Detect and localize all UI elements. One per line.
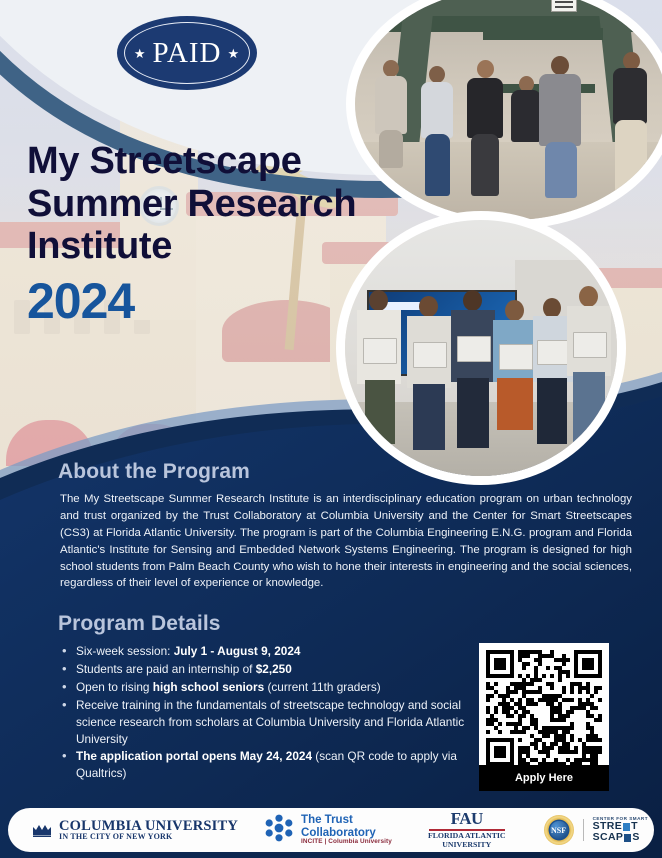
- nsf-mark: NSF: [550, 821, 568, 839]
- logo-trust-collaboratory: The Trust Collaboratory INCITE | Columbi…: [264, 808, 392, 852]
- title-line-2: Summer Research: [27, 183, 387, 226]
- poster: ★ PAID ★: [0, 0, 662, 858]
- qr-code-image[interactable]: [486, 650, 602, 766]
- logo-center-for-smart-streetscapes: CENTER FOR SMART STRE T SCAP S: [593, 817, 648, 844]
- fau-mark: FAU: [451, 810, 483, 827]
- traffic-sign: [551, 0, 577, 12]
- list-item: Open to rising high school seniors (curr…: [60, 679, 480, 696]
- photo-street-scene: [355, 0, 662, 220]
- details-heading: Program Details: [58, 612, 632, 636]
- title-line-1: My Streetscape: [27, 140, 387, 183]
- title-year: 2024: [27, 276, 387, 326]
- apply-here-label[interactable]: Apply Here: [479, 765, 609, 791]
- logo-columbia-university: COLUMBIA UNIVERSITY IN THE CITY OF NEW Y…: [32, 808, 238, 852]
- footer-logo-bar: COLUMBIA UNIVERSITY IN THE CITY OF NEW Y…: [8, 808, 654, 852]
- list-item: Receive training in the fundamentals of …: [60, 697, 480, 748]
- trust-line-2: Collaboratory: [301, 827, 392, 839]
- trust-line-1: The Trust: [301, 814, 392, 826]
- crown-icon: [32, 823, 52, 837]
- columbia-tagline: IN THE CITY OF NEW YORK: [59, 833, 238, 841]
- bar-icon: [623, 823, 630, 831]
- list-item: The application portal opens May 24, 202…: [60, 748, 480, 782]
- logo-nsf-and-cs3: NSF CENTER FOR SMART STRE T SCAP S: [544, 808, 648, 852]
- about-heading: About the Program: [58, 460, 632, 484]
- nsf-seal-icon: NSF: [544, 815, 574, 845]
- paid-badge: ★ PAID ★: [117, 16, 257, 90]
- cs3-line-2b: S: [632, 832, 639, 843]
- qr-code-box[interactable]: Apply Here: [479, 643, 609, 791]
- cs3-line-2: SCAP: [593, 832, 624, 843]
- logo-divider: [583, 819, 584, 841]
- star-icon: ★: [228, 47, 241, 60]
- poster-title: My Streetscape Summer Research Institute…: [27, 140, 387, 326]
- list-item: Six-week session: July 1 - August 9, 202…: [60, 643, 480, 660]
- bar-icon: [624, 834, 631, 842]
- program-details-list: Six-week session: July 1 - August 9, 202…: [60, 643, 480, 782]
- trust-line-3: INCITE | Columbia University: [301, 839, 392, 846]
- list-item: Students are paid an internship of $2,25…: [60, 661, 480, 678]
- about-paragraph: The My Streetscape Summer Research Insti…: [60, 491, 632, 592]
- star-icon: ★: [134, 47, 147, 60]
- logo-florida-atlantic-university: FAU FLORIDA ATLANTIC UNIVERSITY: [428, 808, 506, 852]
- title-line-3: Institute: [27, 225, 387, 268]
- columbia-name: COLUMBIA UNIVERSITY: [59, 819, 238, 834]
- paid-badge-label: PAID: [152, 37, 221, 70]
- people-circle-icon: [264, 814, 294, 847]
- fau-name-2: UNIVERSITY: [442, 841, 491, 850]
